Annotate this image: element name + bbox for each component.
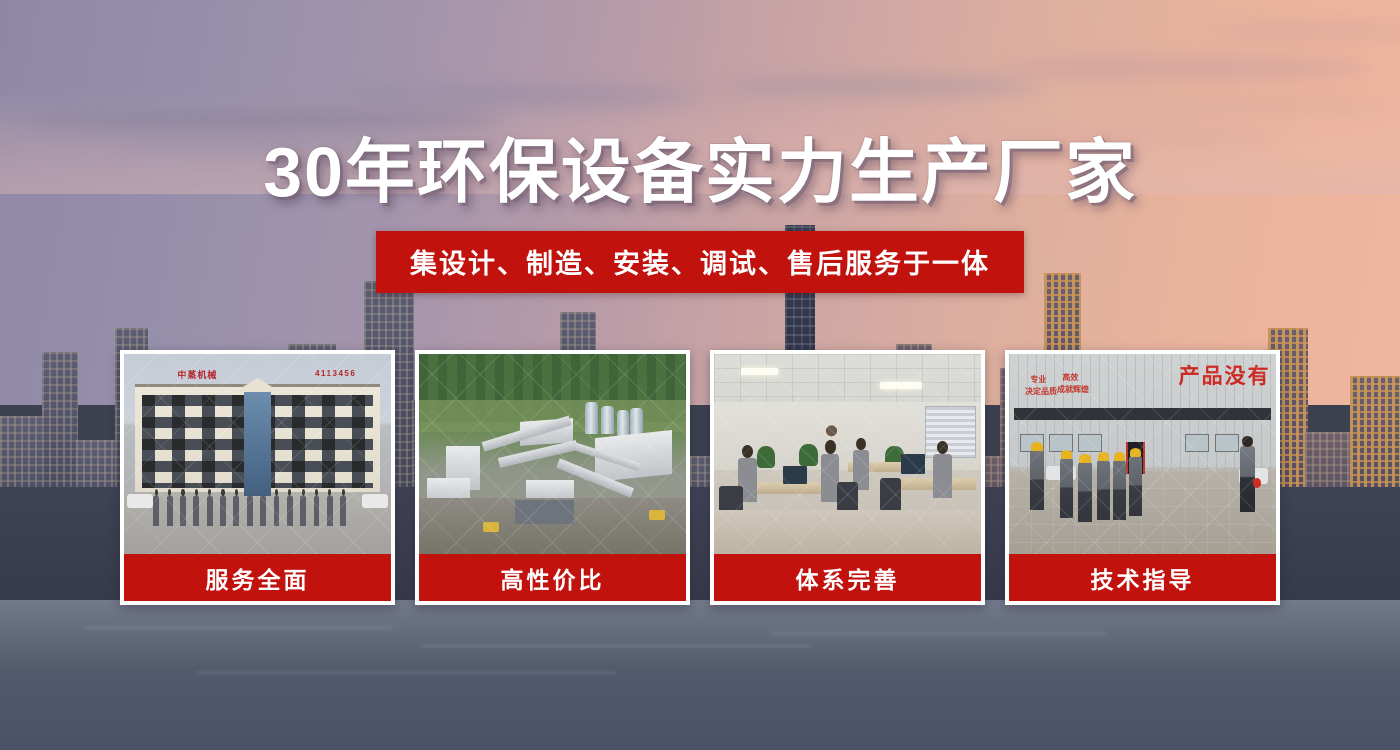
storage-silo <box>585 402 598 434</box>
card-caption-service: 服务全面 <box>124 554 391 601</box>
staff-person <box>153 496 159 526</box>
wall-decal <box>813 414 850 442</box>
ceiling-light <box>741 368 778 375</box>
potted-plant <box>799 444 818 466</box>
worker-with-helmet <box>1060 458 1073 518</box>
cloud <box>1008 57 1372 79</box>
water-sheen <box>0 600 1400 668</box>
banner-headline: 30年环保设备实力生产厂家 <box>0 137 1400 207</box>
banner-subtitle-wrap: 集设计、制造、安装、调试、售后服务于一体 <box>0 231 1400 293</box>
promo-banner: 30年环保设备实力生产厂家 集设计、制造、安装、调试、售后服务于一体 中蒸机械 … <box>0 0 1400 750</box>
yellow-loader <box>483 522 499 532</box>
factory-sub-slogan-2: 高效 <box>1062 374 1078 383</box>
feature-card-row: 中蒸机械 4113456 <box>120 350 1280 605</box>
staff-person <box>247 496 253 526</box>
potted-plant <box>757 446 776 468</box>
monitor <box>901 454 925 474</box>
office-worker <box>933 454 952 498</box>
factory-window <box>1215 434 1239 452</box>
staff-person <box>327 496 333 526</box>
parked-car <box>362 494 389 508</box>
building-forecourt <box>124 492 391 554</box>
staff-person <box>300 496 306 526</box>
factory-slogan-text: 产品没有 <box>1179 360 1271 390</box>
card-caption-training: 技术指导 <box>1009 554 1276 601</box>
building-sign-text: 中蒸机械 <box>177 368 217 381</box>
cloud <box>728 77 1036 95</box>
water-ripple <box>770 633 1106 635</box>
feature-card-training[interactable]: 产品没有 专业 决定品质 高效 成就辉煌 <box>1005 350 1280 605</box>
parked-car <box>127 494 154 508</box>
office-ceiling <box>714 354 981 402</box>
instructor-person <box>1240 446 1255 512</box>
factory-yard <box>1009 470 1276 554</box>
worker-with-helmet <box>1097 460 1110 520</box>
water-ripple <box>196 672 616 674</box>
cloud <box>1204 24 1400 38</box>
feature-card-value[interactable]: 高性价比 <box>415 350 690 605</box>
plant-building <box>526 480 574 500</box>
water-ripple <box>84 627 392 629</box>
staff-person <box>207 496 213 526</box>
factory-sub-slogan-2b: 成就辉煌 <box>1057 386 1089 395</box>
window-blinds <box>925 406 976 458</box>
card-caption-value: 高性价比 <box>419 554 686 601</box>
worker-with-helmet <box>1030 450 1043 510</box>
staff-person <box>260 496 266 526</box>
cloud <box>336 89 700 105</box>
factory-sub-slogan-1b: 决定品质 <box>1025 388 1057 397</box>
workshop-training-photo: 产品没有 专业 决定品质 高效 成就辉煌 <box>1009 354 1276 554</box>
factory-window <box>1049 434 1073 452</box>
storage-silo <box>630 408 643 436</box>
storage-silo <box>617 410 629 436</box>
water-ripple <box>420 645 812 647</box>
laptop-screen <box>783 466 807 484</box>
feature-card-system[interactable]: 体系完善 <box>710 350 985 605</box>
loading-canopy <box>515 500 574 524</box>
card-caption-system: 体系完善 <box>714 554 981 601</box>
staff-person <box>193 496 199 526</box>
factory-window <box>1078 434 1102 452</box>
office-floor <box>714 510 981 554</box>
staff-person <box>340 496 346 526</box>
storage-silo <box>601 406 614 434</box>
factory-sub-slogan-1: 专业 <box>1030 376 1046 385</box>
office-chair <box>880 478 901 512</box>
feature-card-service[interactable]: 中蒸机械 4113456 <box>120 350 395 605</box>
building-atrium <box>244 386 271 496</box>
production-plant-aerial-photo <box>419 354 686 554</box>
worker-with-helmet <box>1129 456 1142 516</box>
worker-with-helmet <box>1078 462 1091 522</box>
staff-person <box>314 496 320 526</box>
worker-with-helmet <box>1113 460 1126 520</box>
river-water <box>0 600 1400 750</box>
yellow-loader <box>649 510 665 520</box>
banner-subtitle: 集设计、制造、安装、调试、售后服务于一体 <box>376 231 1024 293</box>
building-phone-text: 4113456 <box>315 369 356 378</box>
ceiling-light <box>880 382 923 389</box>
staff-person <box>220 496 226 526</box>
office-interior-photo <box>714 354 981 554</box>
staff-person <box>180 496 186 526</box>
factory-window <box>1185 434 1209 452</box>
staff-person <box>167 496 173 526</box>
clerestory-window-strip <box>1014 408 1270 420</box>
staff-person <box>274 496 280 526</box>
staff-person <box>287 496 293 526</box>
company-headquarters-photo: 中蒸机械 4113456 <box>124 354 391 554</box>
staff-person <box>233 496 239 526</box>
